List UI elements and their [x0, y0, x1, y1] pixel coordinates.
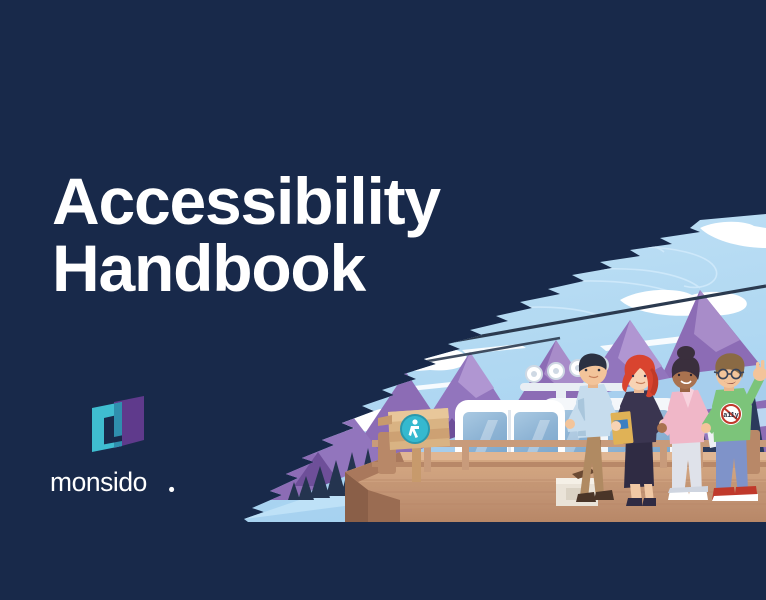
page-title: Accessibility Handbook — [52, 168, 532, 302]
brand-logo: monsido — [50, 394, 260, 500]
monsido-logo-mark — [88, 394, 150, 456]
title-line-2: Handbook — [52, 235, 532, 302]
ebook-cover: a11y — [0, 0, 766, 600]
svg-text:a11y: a11y — [723, 412, 738, 419]
wordmark-text: monsido — [50, 467, 147, 497]
monsido-wordmark: monsido — [50, 466, 186, 500]
title-line-1: Accessibility — [52, 168, 532, 235]
